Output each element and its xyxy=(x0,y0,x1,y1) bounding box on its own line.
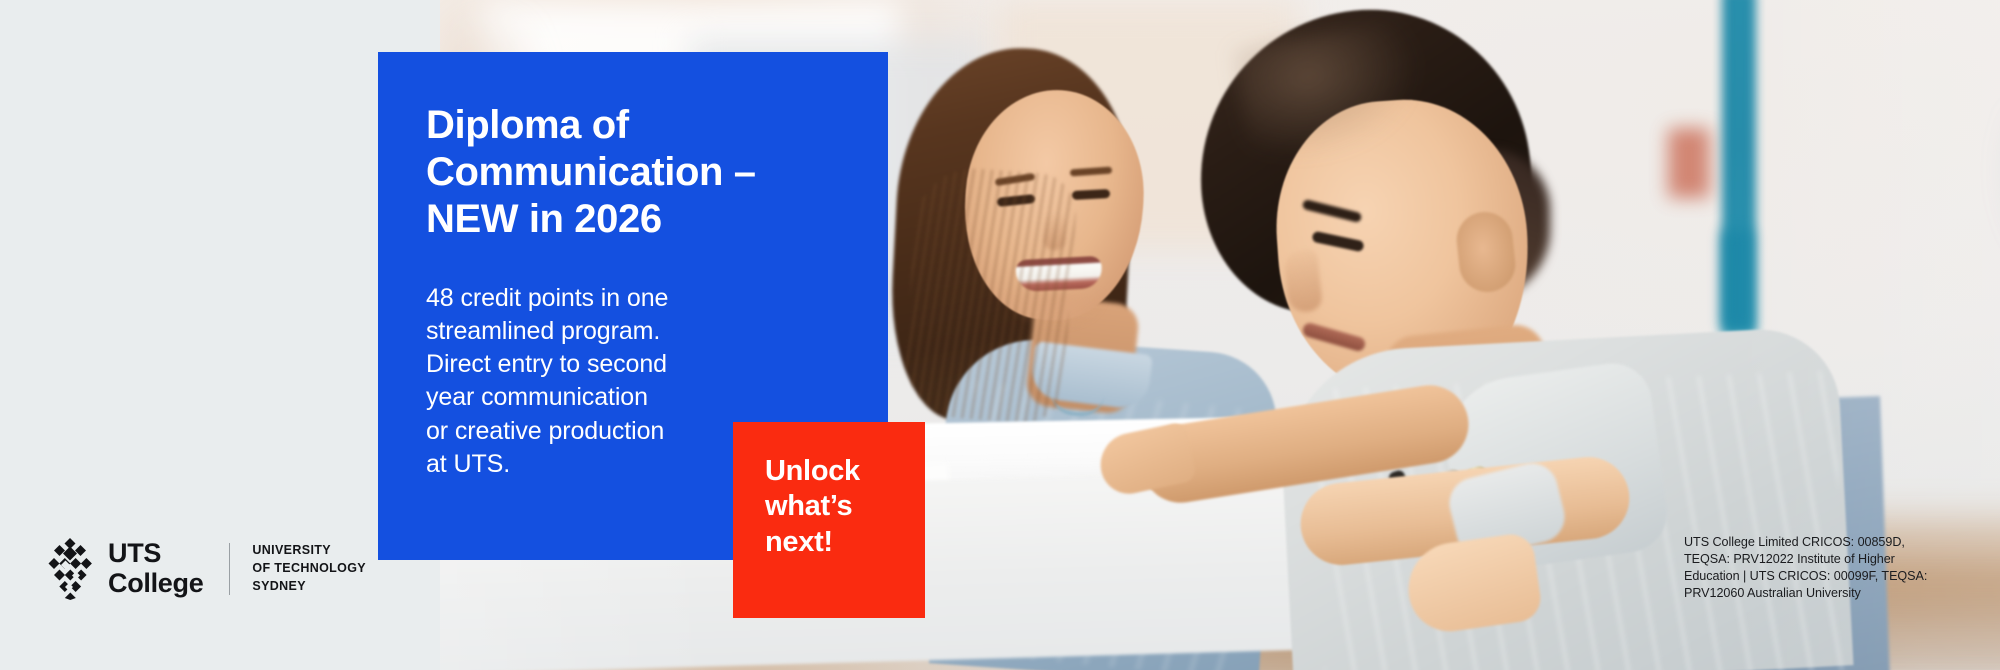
uts-college-wordmark: UTS College xyxy=(108,539,203,598)
uts-college-logo[interactable]: UTS College UNIVERSITY OF TECHNOLOGY SYD… xyxy=(48,538,366,600)
logo-divider xyxy=(229,543,230,595)
uts-college-diamond-mark xyxy=(48,538,92,600)
page-title: Diploma of Communication – NEW in 2026 xyxy=(426,102,826,244)
uts-tagline: UNIVERSITY OF TECHNOLOGY SYDNEY xyxy=(252,542,366,595)
blurred-red-wall-object xyxy=(1668,128,1710,198)
promo-banner: Diploma of Communication – NEW in 2026 4… xyxy=(0,0,2000,670)
cta-label: Unlock what’s next! xyxy=(765,454,925,560)
teal-column-lower xyxy=(1722,230,1752,330)
cta-button[interactable]: Unlock what’s next! xyxy=(733,422,925,618)
student-a-hair-strands xyxy=(901,165,1078,426)
legal-disclaimer: UTS College Limited CRICOS: 00859D, TEQS… xyxy=(1684,534,1974,603)
panel-subcopy: 48 credit points in one streamlined prog… xyxy=(426,282,726,482)
